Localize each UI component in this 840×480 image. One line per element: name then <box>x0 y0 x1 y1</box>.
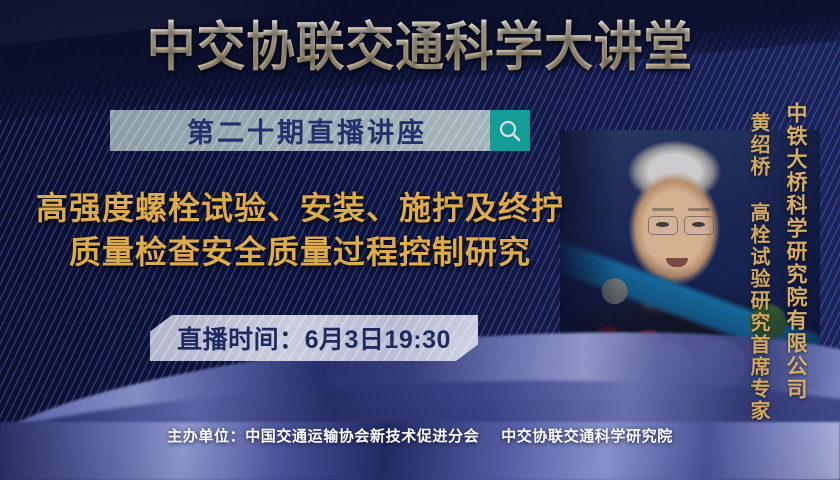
footer-org-2: 中交协联交通科学研究院 <box>501 428 673 445</box>
broadcast-time-badge: 直播时间：6月3日19:30 <box>150 315 478 361</box>
search-icon <box>497 118 523 144</box>
speaker-name-role: 黄绍桥 高栓试验研究首席专家 <box>744 112 773 422</box>
lecture-title-line1: 高强度螺栓试验、安装、施拧及终拧 <box>36 190 564 226</box>
lecture-title: 高强度螺栓试验、安装、施拧及终拧 质量检查安全质量过程控制研究 <box>0 186 600 274</box>
page-title: 中交协联交通科学大讲堂 <box>34 18 807 78</box>
speaker-organization: 中铁大桥科学研究院有限公司 <box>780 102 810 401</box>
episode-bar: 第二十期直播讲座 <box>110 110 530 151</box>
search-button[interactable] <box>490 110 530 151</box>
footer-organizers: 主办单位：中国交通运输协会新技术促进分会中交协联交通科学研究院 <box>0 425 840 446</box>
footer-org-1: 中国交通运输协会新技术促进分会 <box>245 428 479 445</box>
episode-label: 第二十期直播讲座 <box>110 111 490 150</box>
broadcast-time-label: 直播时间：6月3日19:30 <box>177 320 451 356</box>
lecture-title-line2: 质量检查安全质量过程控制研究 <box>0 230 600 274</box>
livestream-poster: 中交协联交通科学大讲堂 中交协联交通科学大讲堂 第二十期直播讲座 高强度螺栓试验… <box>0 0 840 480</box>
footer-prefix: 主办单位： <box>167 428 245 445</box>
